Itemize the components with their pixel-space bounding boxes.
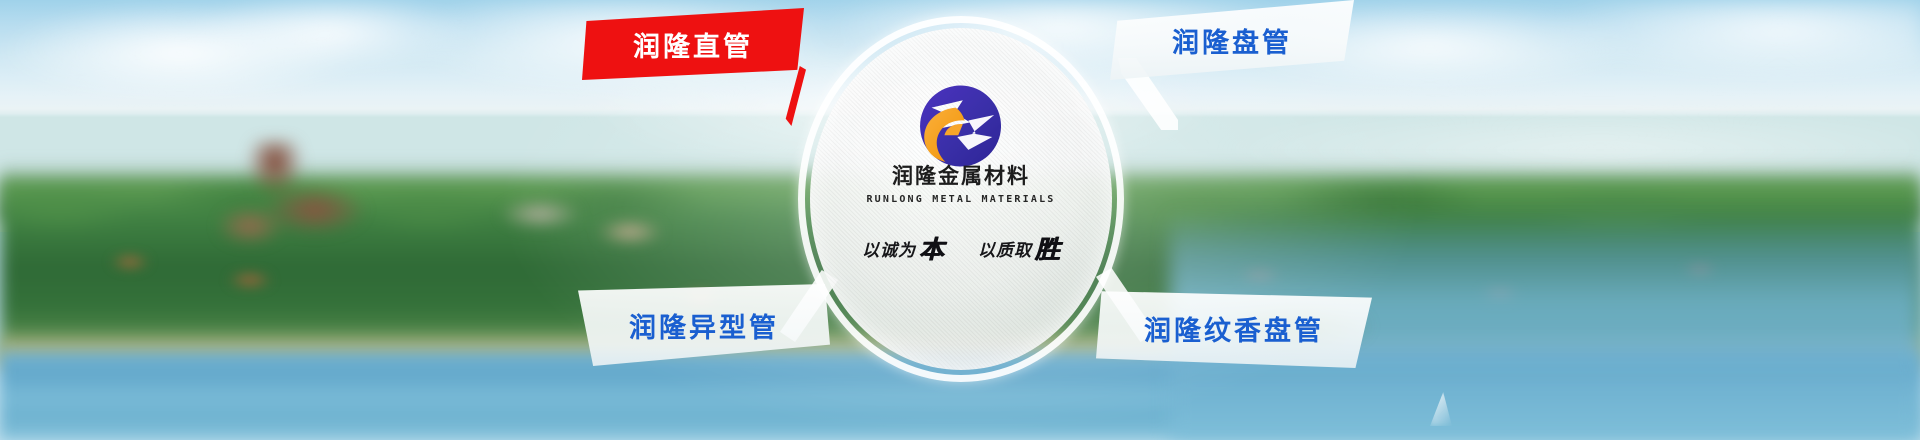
slogan-phrase-2: 以质取 胜: [978, 228, 1060, 264]
brand-name-en: RUNLONG METAL MATERIALS: [810, 194, 1112, 205]
slogan-1-accent: 本: [919, 230, 944, 266]
callout-pattern-coil[interactable]: 润隆纹香盘管: [1096, 288, 1372, 368]
callout-pattern-coil-label: 润隆纹香盘管: [1144, 309, 1324, 348]
callout-shaped-pipe-label: 润隆异型管: [629, 306, 779, 345]
promo-banner: 润隆金属材料 RUNLONG METAL MATERIALS 以诚为 本 以质取…: [0, 0, 1920, 440]
badge-face: 润隆金属材料 RUNLONG METAL MATERIALS 以诚为 本 以质取…: [810, 28, 1112, 370]
runlong-r-mark-icon: [915, 80, 1007, 172]
slogan-2-accent: 胜: [1035, 230, 1060, 266]
slogan-1-lead: 以诚为: [862, 236, 916, 261]
brand-slogan: 以诚为 本 以质取 胜: [810, 228, 1112, 264]
brand-name-cn: 润隆金属材料: [810, 160, 1112, 190]
callout-coil-pipe-label: 润隆盘管: [1172, 21, 1292, 60]
slogan-phrase-1: 以诚为 本: [862, 228, 944, 264]
center-badge: 润隆金属材料 RUNLONG METAL MATERIALS 以诚为 本 以质取…: [798, 16, 1124, 382]
callout-straight-pipe-label: 润隆直管: [633, 25, 753, 64]
slogan-2-lead: 以质取: [978, 236, 1032, 261]
